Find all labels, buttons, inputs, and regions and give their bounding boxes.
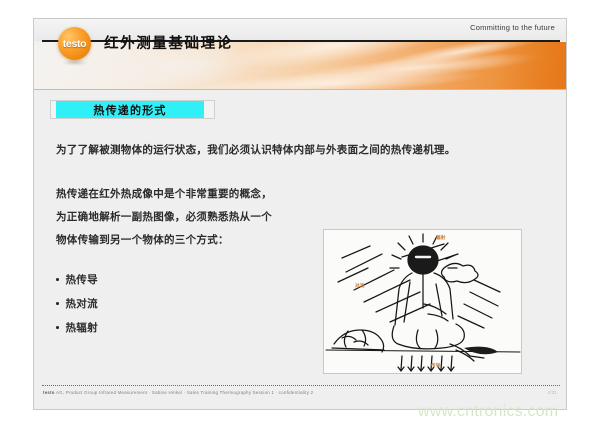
site-watermark: www.cntronics.com xyxy=(418,403,558,421)
list-item-label: 热对流 xyxy=(66,296,98,311)
footer-details: AG, Product Group Infrared Measurement ·… xyxy=(56,390,313,395)
testo-logo-label: testo xyxy=(58,38,91,50)
figure-label-convection: 对流 xyxy=(355,283,365,289)
bullet-dot-icon xyxy=(56,278,59,281)
footer-company: testo xyxy=(43,390,55,395)
paragraph-line-2: 为正确地解析一副热图像，必须熟悉热从一个 xyxy=(56,209,272,224)
paragraph-intro: 为了了解被测物体的运行状态，我们必须认识特体内部与外表面之间的热传递机理。 xyxy=(56,142,456,157)
bullet-dot-icon xyxy=(56,326,59,329)
figure-label-radiation: 辐射 xyxy=(436,235,446,241)
footer-text: testo AG, Product Group Infrared Measure… xyxy=(43,390,313,395)
logo-shadow xyxy=(62,59,88,66)
heat-transfer-illustration: 辐射 对流 传导 xyxy=(323,229,522,374)
bullet-dot-icon xyxy=(56,302,59,305)
list-item-label: 热辐射 xyxy=(66,320,98,335)
footer-divider xyxy=(42,385,560,386)
illustration-linework xyxy=(324,230,522,374)
list-item: 热传导 xyxy=(56,272,98,287)
presentation-slide: Committing to the future testo 红外测量基础理论 … xyxy=(33,18,567,410)
list-item: 热对流 xyxy=(56,296,98,311)
list-item-label: 热传导 xyxy=(66,272,98,287)
page-number: 2/31 xyxy=(548,390,557,395)
testo-logo: testo xyxy=(58,27,91,60)
paragraph-line-3: 物体传输到另一个物体的三个方式： xyxy=(56,232,229,247)
list-item: 热辐射 xyxy=(56,320,98,335)
figure-label-conduction: 传导 xyxy=(431,363,441,369)
paragraph-line-1: 热传递在红外热成像中是个非常重要的概念， xyxy=(56,186,272,201)
